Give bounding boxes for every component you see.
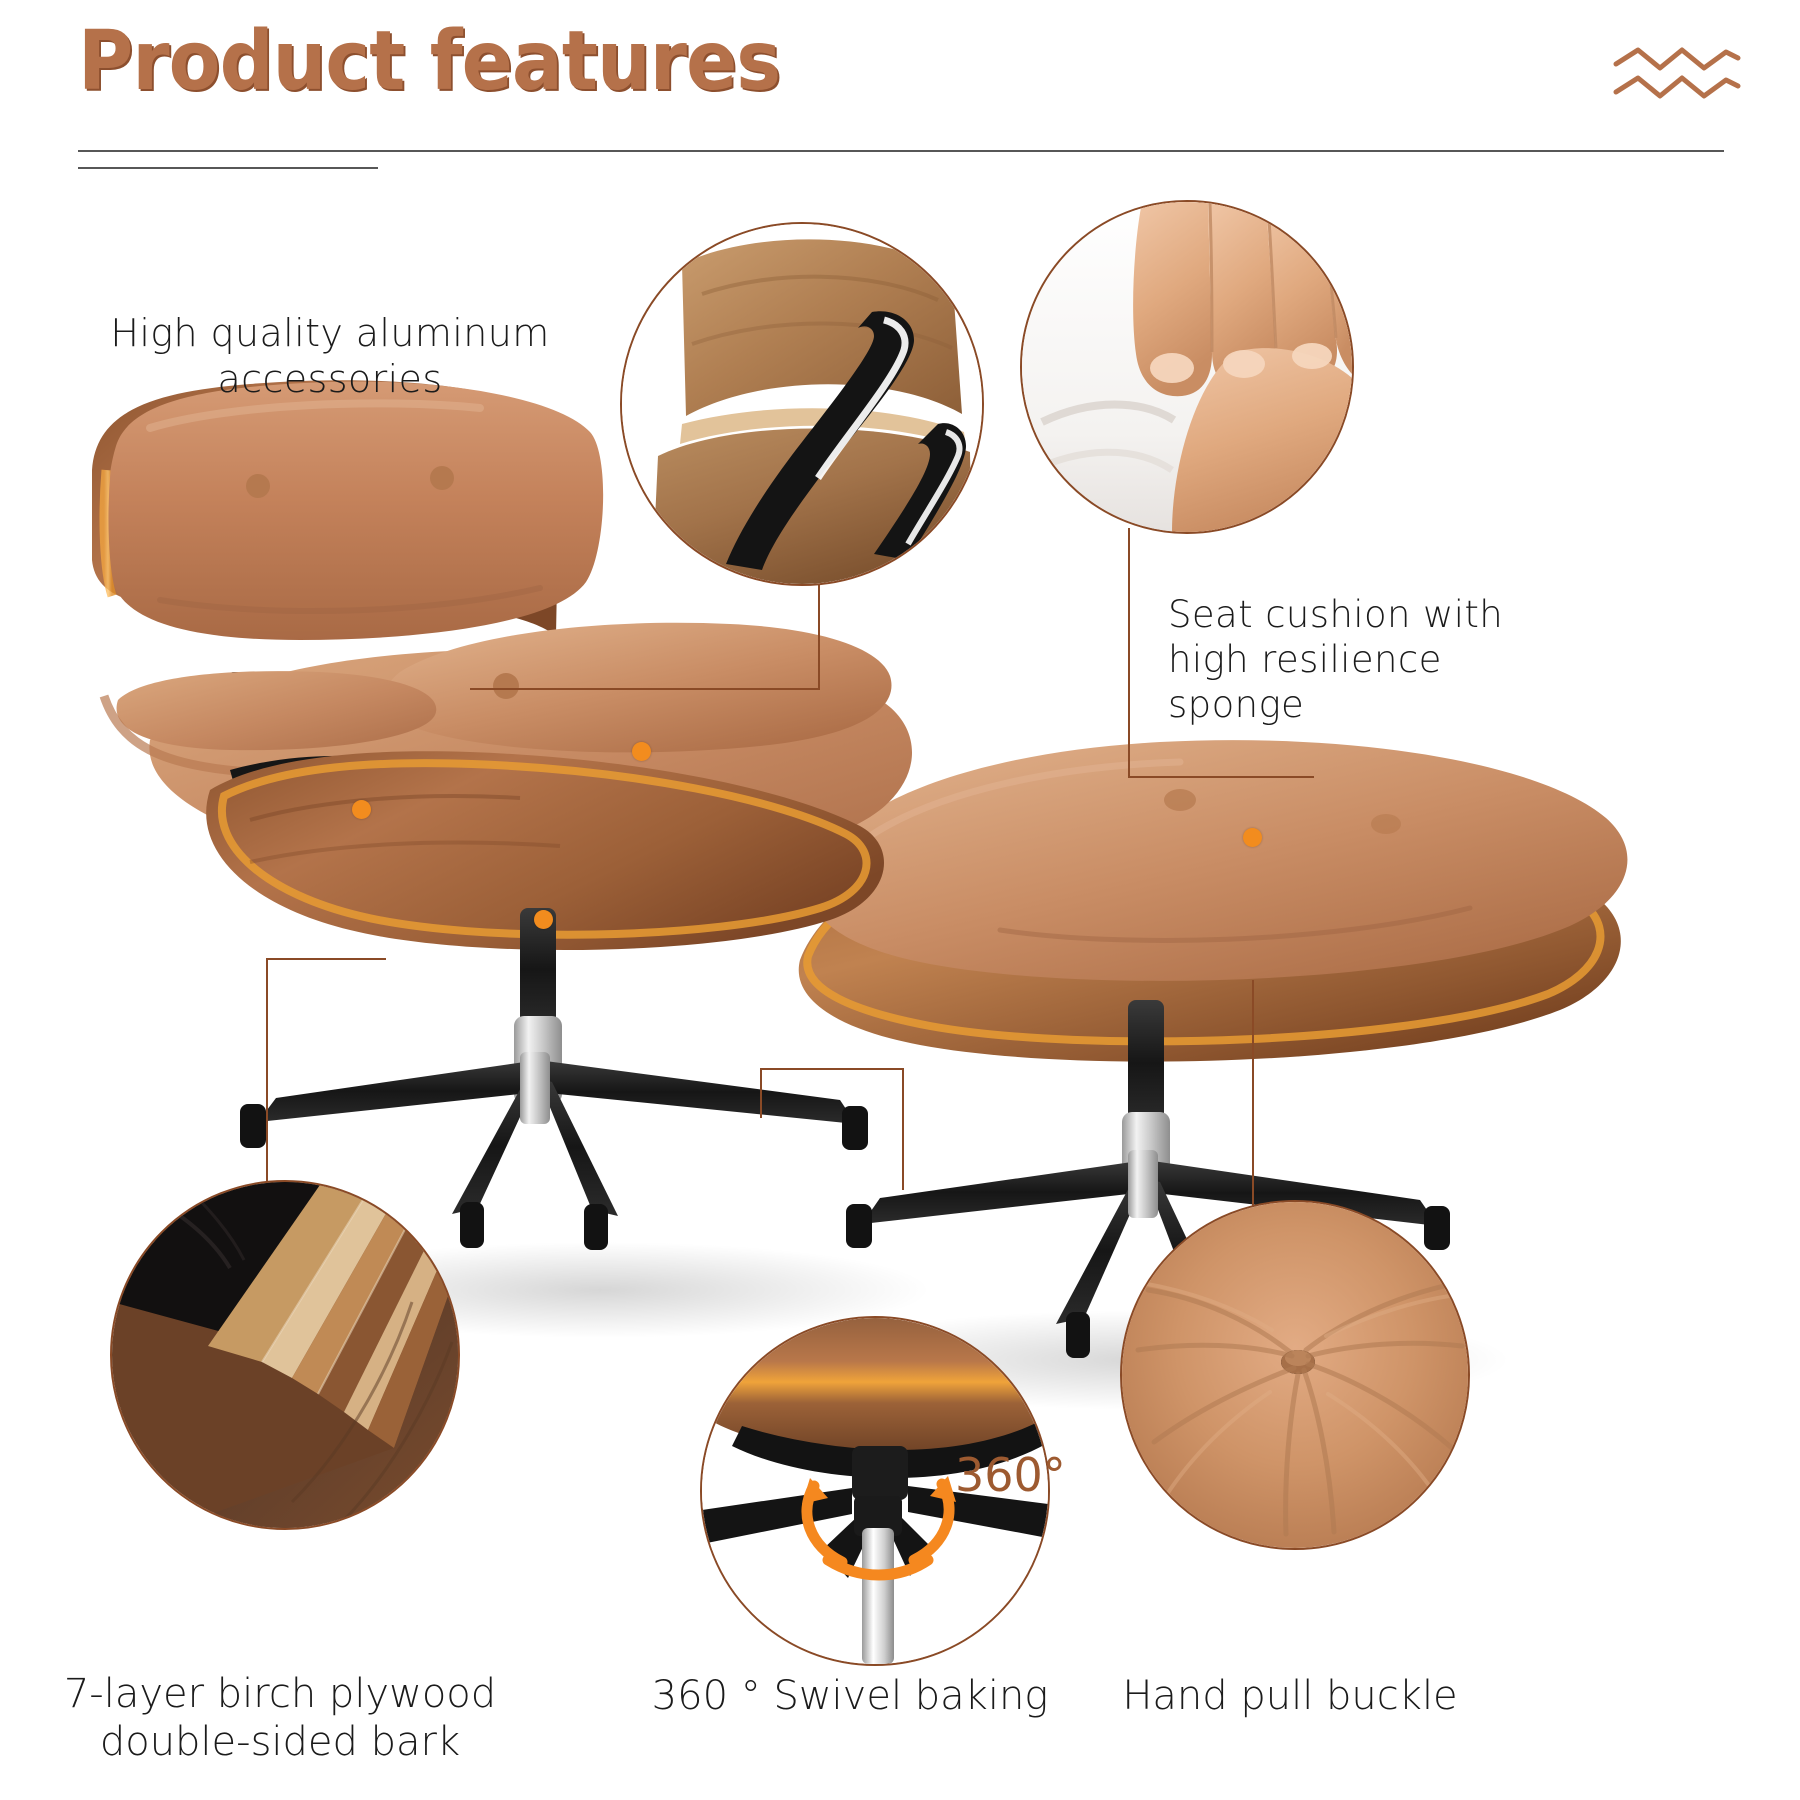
page-title: Product features <box>78 14 780 109</box>
infographic-canvas: Product features <box>0 0 1800 1800</box>
connector-aluminum-horizontal <box>470 688 820 690</box>
title-rule-long <box>78 150 1724 152</box>
connector-swivel-vertical-2 <box>760 1068 762 1118</box>
hotspot-dot-buckle <box>1243 828 1262 847</box>
caption-swivel: 360 ° Swivel baking <box>620 1672 1080 1720</box>
hotspot-dot-swivel <box>534 910 553 929</box>
hand-press-cushion-inset <box>1020 200 1354 534</box>
connector-cushion-vertical <box>1128 528 1130 778</box>
hand-pull-buckle-inset <box>1120 1200 1470 1550</box>
connector-cushion-horizontal <box>1128 776 1314 778</box>
hotspot-dot-plywood <box>352 800 371 819</box>
connector-aluminum-vertical <box>818 580 820 690</box>
connector-buckle-vertical <box>1252 980 1254 1210</box>
swivel-360-badge: 360° <box>955 1448 1066 1502</box>
connector-plywood-vertical <box>266 960 268 1200</box>
wave-lines-icon <box>1612 38 1742 108</box>
callout-label-cushion: Seat cushion with high resilience sponge <box>1168 592 1598 727</box>
connector-swivel-vertical <box>902 1070 904 1190</box>
title-rule-short <box>78 167 378 169</box>
caption-plywood: 7-layer birch plywood double-sided bark <box>40 1670 520 1766</box>
plywood-edge-inset <box>110 1180 460 1530</box>
aluminum-bracket-inset <box>620 222 984 586</box>
callout-label-aluminum: High quality aluminum accessories <box>90 310 570 403</box>
hotspot-dot-seat <box>632 742 651 761</box>
connector-swivel-horizontal <box>760 1068 904 1070</box>
caption-buckle: Hand pull buckle <box>1070 1672 1510 1720</box>
connector-plywood-horizontal <box>266 958 386 960</box>
